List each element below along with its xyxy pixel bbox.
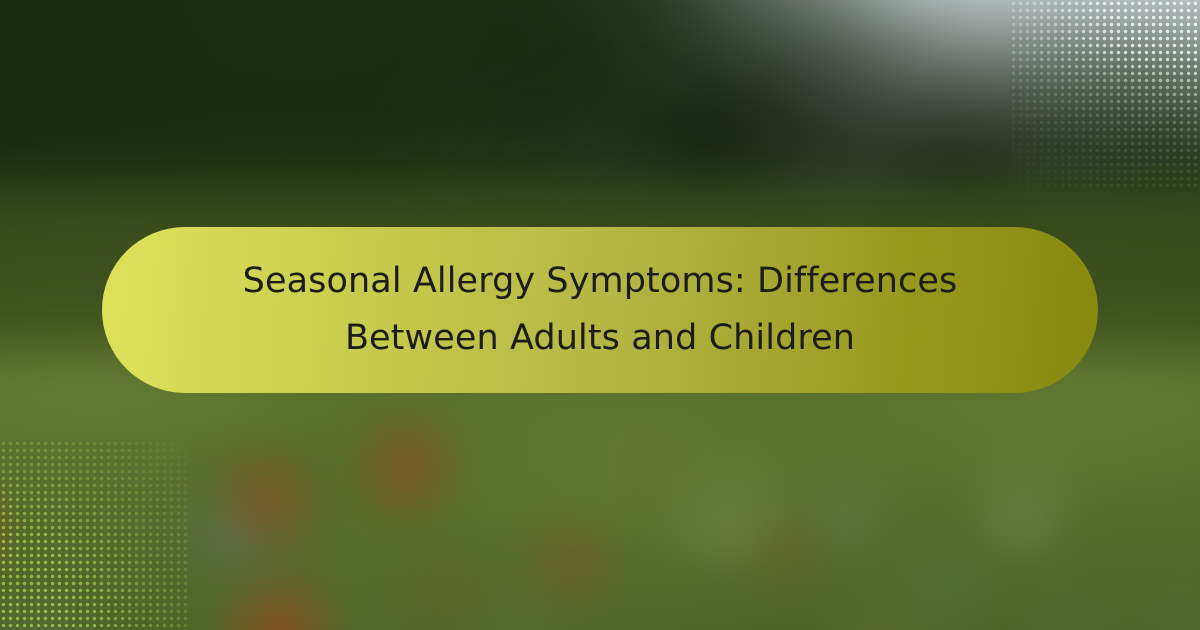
- flower-blob: [1167, 605, 1195, 630]
- flower-blob: [383, 442, 432, 491]
- flower-blob: [831, 506, 867, 542]
- flower-blob: [642, 454, 674, 486]
- page-title: Seasonal Allergy Symptoms: DifferencesBe…: [243, 253, 958, 366]
- flower-blob: [999, 494, 1046, 541]
- share-card: Seasonal Allergy Symptoms: DifferencesBe…: [0, 0, 1200, 630]
- title-pill: Seasonal Allergy Symptoms: DifferencesBe…: [102, 227, 1098, 393]
- flower-blob: [929, 573, 963, 607]
- flower-blob: [1055, 621, 1087, 630]
- flower-blob: [432, 573, 464, 605]
- flower-blob: [334, 538, 362, 566]
- flower-blob: [775, 534, 811, 570]
- flower-blob: [243, 478, 290, 525]
- flower-blob: [502, 621, 540, 630]
- flower-blob: [880, 605, 910, 630]
- dot-grid-top-right: [1010, 0, 1200, 190]
- dot-grid-bottom-left: [0, 440, 190, 630]
- flower-blob: [250, 601, 307, 630]
- page-title-line-2: Between Adults and Children: [345, 318, 855, 358]
- flower-blob: [705, 498, 752, 545]
- flower-blob: [236, 538, 268, 570]
- flower-blob: [551, 542, 591, 582]
- page-title-line-1: Seasonal Allergy Symptoms: Differences: [243, 261, 958, 301]
